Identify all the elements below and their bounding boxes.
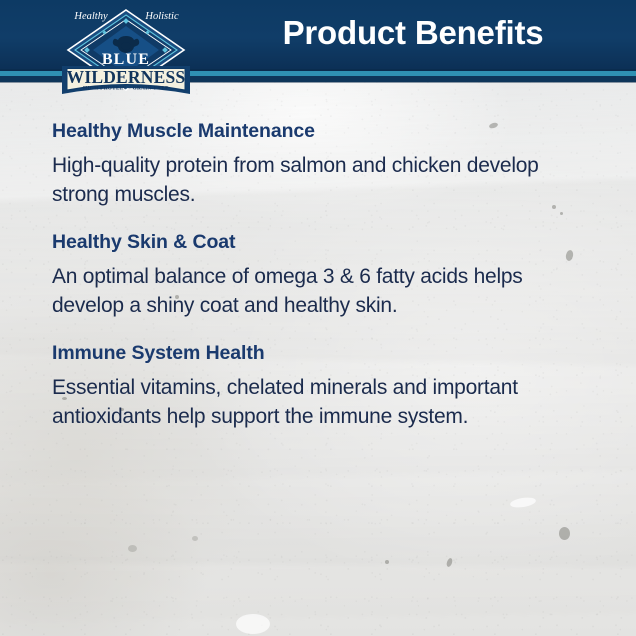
blue-wilderness-logo: Healthy Holistic xyxy=(58,4,194,98)
benefit-heading: Healthy Skin & Coat xyxy=(52,229,608,255)
background-speck xyxy=(128,545,137,552)
background-speck xyxy=(236,614,270,634)
benefit-item: Healthy Muscle Maintenance High-quality … xyxy=(52,118,608,209)
benefit-item: Immune System Health Essential vitamins,… xyxy=(52,340,608,431)
benefit-item: Healthy Skin & Coat An optimal balance o… xyxy=(52,229,608,320)
benefit-heading: Immune System Health xyxy=(52,340,608,366)
background-speck xyxy=(385,560,389,564)
benefit-body: High-quality protein from salmon and chi… xyxy=(52,151,582,209)
background-speck xyxy=(192,536,198,541)
benefit-heading: Healthy Muscle Maintenance xyxy=(52,118,608,144)
logo-tagline-right: Holistic xyxy=(144,11,179,22)
logo-tagline-left: Healthy xyxy=(73,11,108,22)
background-speck xyxy=(559,527,570,540)
logo-subline-text: HIGH PROTEIN ~ GRAIN-FREE xyxy=(83,86,169,92)
benefit-body: Essential vitamins, chelated minerals an… xyxy=(52,373,582,431)
page-title: Product Benefits xyxy=(208,11,618,55)
logo-wilderness-text: WILDERNESS xyxy=(67,67,186,87)
benefits-list: Healthy Muscle Maintenance High-quality … xyxy=(52,118,608,431)
logo-brand-text: BLUE xyxy=(102,51,150,68)
benefit-body: An optimal balance of omega 3 & 6 fatty … xyxy=(52,262,582,320)
product-benefits-panel: Product Benefits Healthy Holistic xyxy=(0,0,636,636)
